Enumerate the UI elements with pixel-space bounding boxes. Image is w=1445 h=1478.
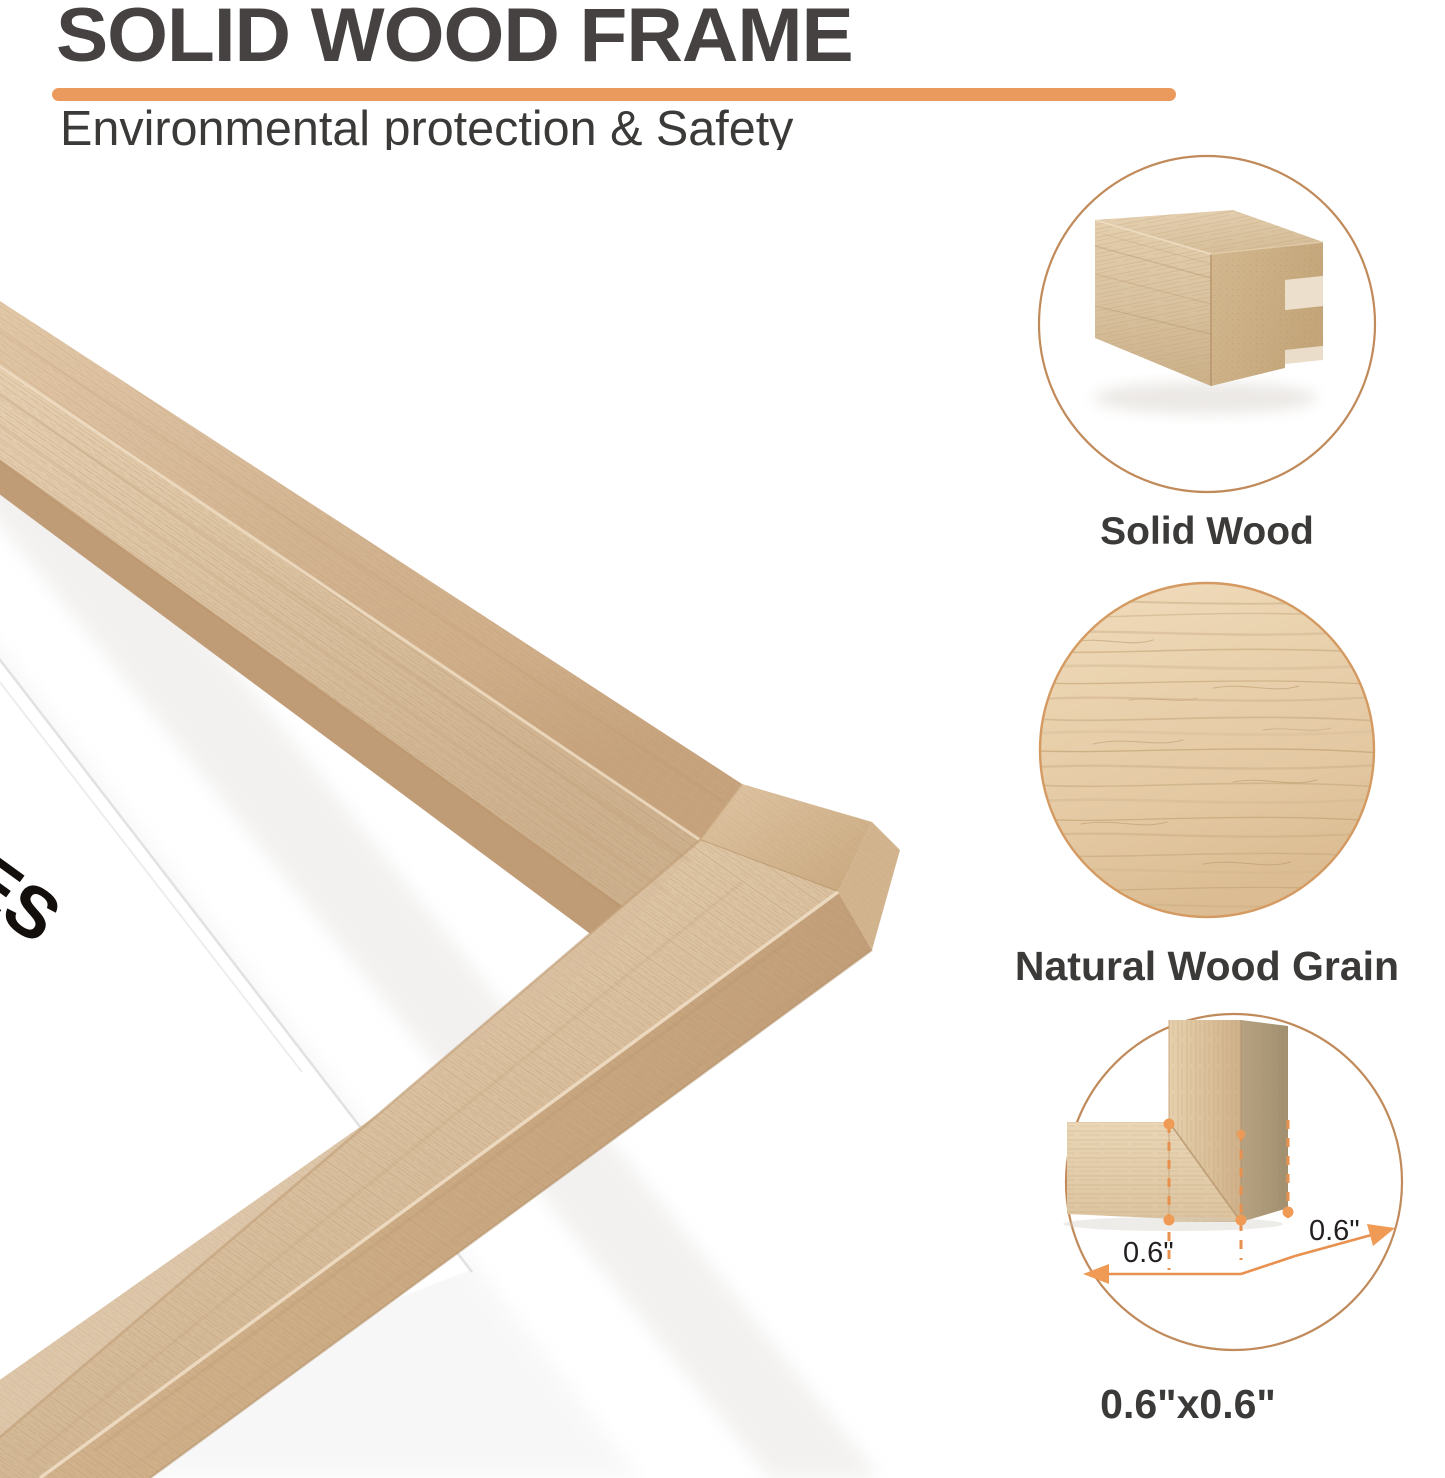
solid-wood-profile-icon [1033, 150, 1381, 498]
page-subtitle: Environmental protection & Safety [60, 105, 793, 154]
wood-frame-corner-photo: ES [0, 150, 1010, 1478]
frame-corner-dimension-icon: 0.6" 0.6" [1023, 1012, 1445, 1352]
callout-natural-wood-grain: Natural Wood Grain [1033, 576, 1381, 996]
callout-label-solid-wood: Solid Wood [1033, 512, 1381, 551]
dimension-label-width: 0.6" [1123, 1237, 1174, 1269]
callout-label-frame-dimension: 0.6"x0.6" [1023, 1384, 1353, 1425]
wood-grain-swatch-icon [1033, 576, 1381, 924]
dimension-label-depth: 0.6" [1309, 1215, 1360, 1247]
callout-frame-dimension: 0.6" 0.6" 0.6"x0.6" [1023, 1012, 1445, 1472]
frame-photo-illustration: ES [0, 150, 1010, 1478]
callout-label-natural-wood-grain: Natural Wood Grain [985, 946, 1429, 987]
page-title: SOLID WOOD FRAME [56, 0, 853, 74]
title-underline-rule [52, 88, 1176, 101]
callout-solid-wood: Solid Wood [1033, 150, 1381, 562]
header-banner: SOLID WOOD FRAME Environmental protectio… [0, 0, 1445, 170]
